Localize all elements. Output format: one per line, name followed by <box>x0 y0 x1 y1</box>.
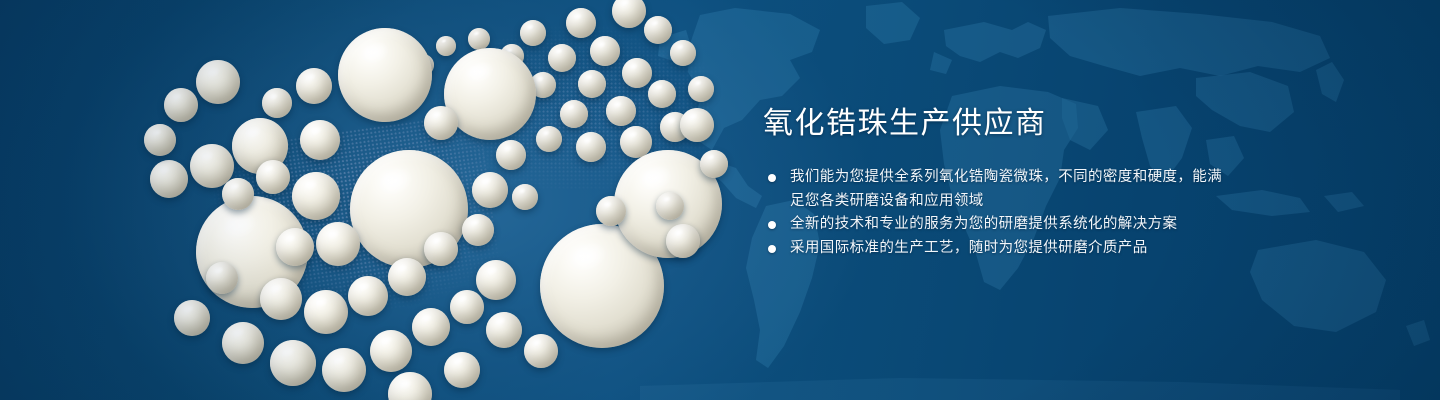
banner-content: 氧化锆珠生产供应商 我们能为您提供全系列氧化锆陶瓷微珠，不同的密度和硬度，能满足… <box>763 104 1233 260</box>
list-item: 采用国际标准的生产工艺，随时为您提供研磨介质产品 <box>763 237 1233 261</box>
list-item-label: 采用国际标准的生产工艺，随时为您提供研磨介质产品 <box>790 240 1148 256</box>
hero-banner: 氧化锆珠生产供应商 我们能为您提供全系列氧化锆陶瓷微珠，不同的密度和硬度，能满足… <box>0 0 1440 400</box>
list-item: 全新的技术和专业的服务为您的研磨提供系统化的解决方案 <box>763 213 1233 237</box>
filled-circle-bullet-icon <box>768 174 776 182</box>
feature-list: 我们能为您提供全系列氧化锆陶瓷微珠，不同的密度和硬度，能满足您各类研磨设备和应用… <box>763 166 1233 260</box>
page-title: 氧化锆珠生产供应商 <box>763 104 1233 144</box>
list-item-label: 我们能为您提供全系列氧化锆陶瓷微珠，不同的密度和硬度，能满足您各类研磨设备和应用… <box>790 169 1222 209</box>
filled-circle-bullet-icon <box>768 221 776 229</box>
filled-circle-bullet-icon <box>768 245 776 253</box>
list-item-label: 全新的技术和专业的服务为您的研磨提供系统化的解决方案 <box>790 216 1177 232</box>
list-item: 我们能为您提供全系列氧化锆陶瓷微珠，不同的密度和硬度，能满足您各类研磨设备和应用… <box>763 166 1233 213</box>
